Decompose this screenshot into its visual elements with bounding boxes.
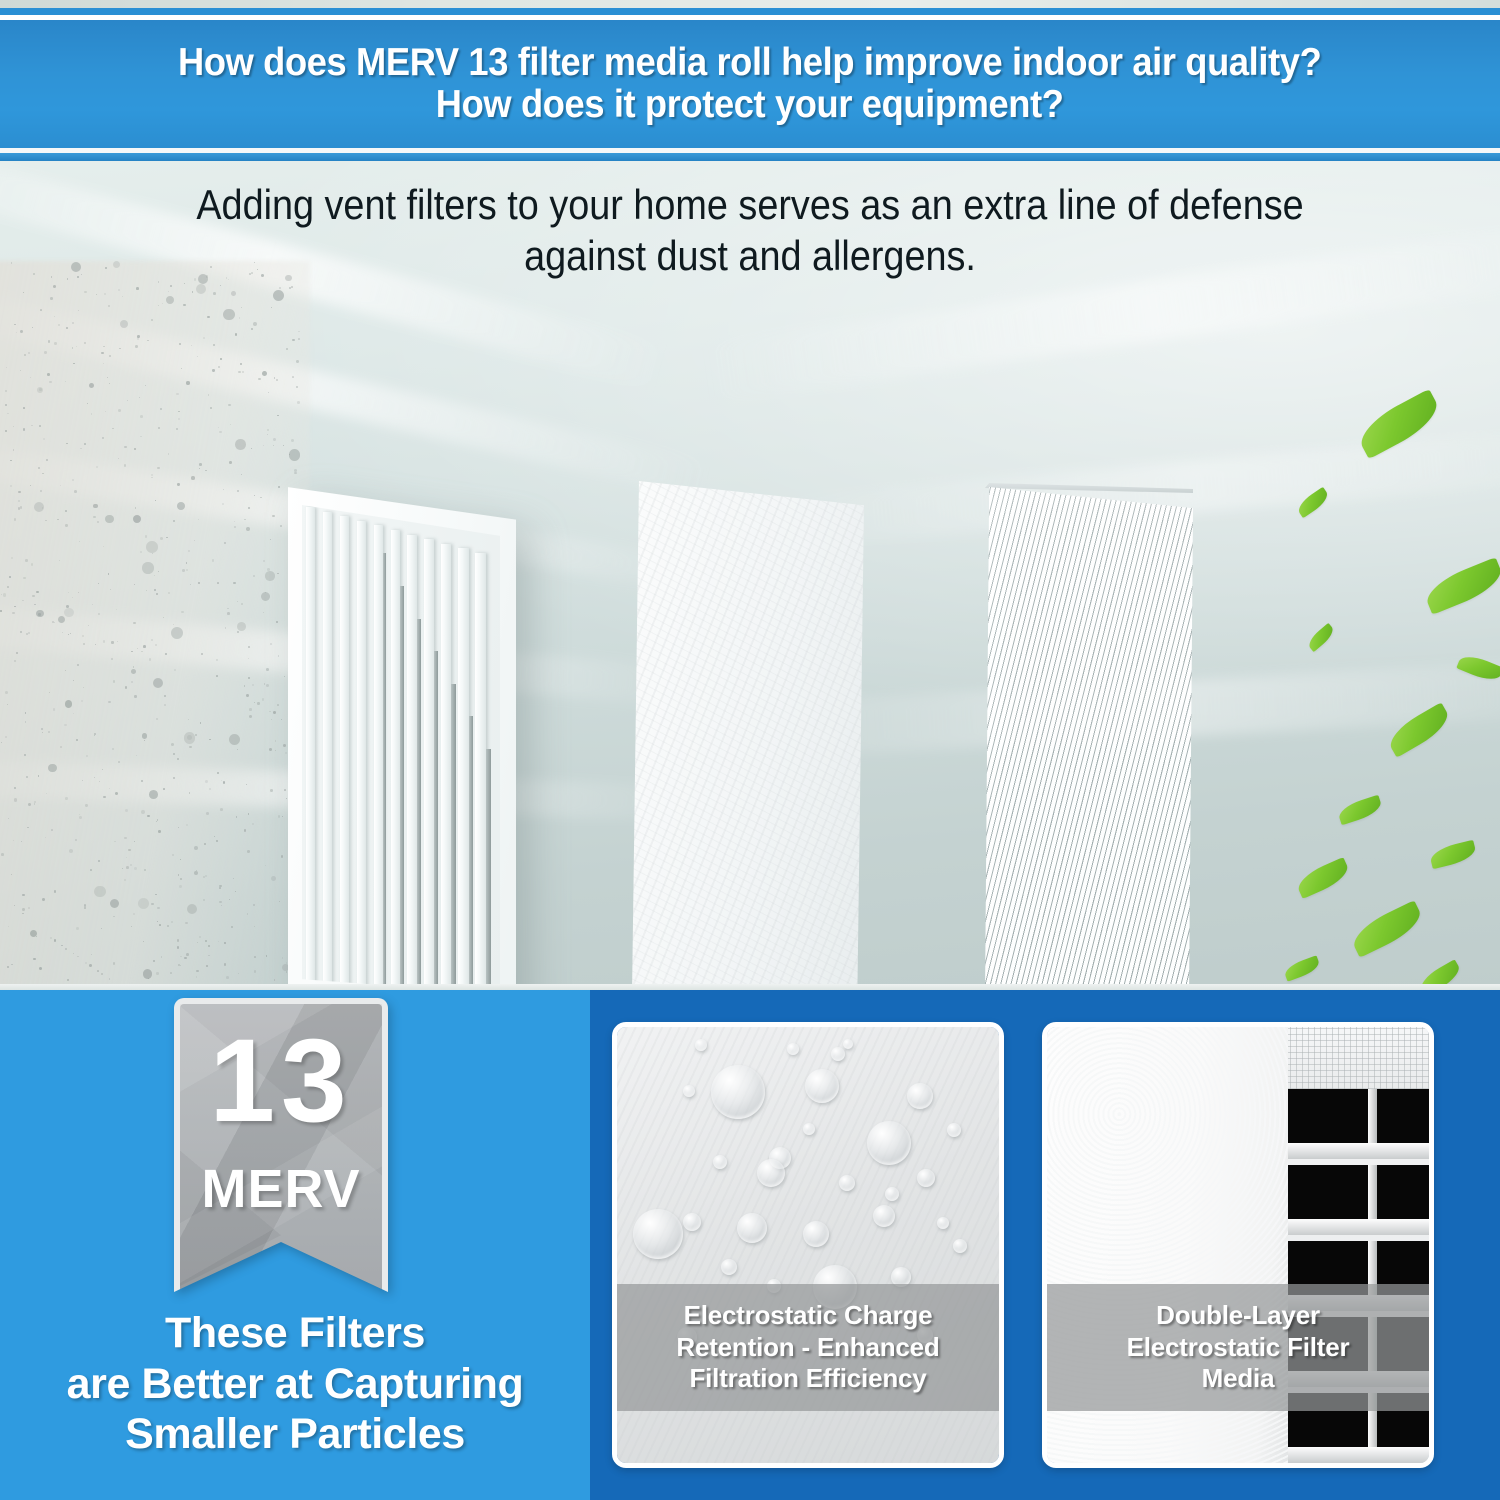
dust-particle-icon: [235, 439, 245, 449]
card-caption-line-2: Electrostatic Filter: [1057, 1332, 1419, 1364]
dust-particle-icon: [142, 562, 154, 574]
dust-particle-icon: [266, 955, 267, 956]
grille-louver-shadow: [400, 586, 403, 990]
dust-particle-icon: [291, 439, 294, 442]
dust-particle-icon: [176, 428, 178, 430]
grille-louver: [306, 507, 315, 990]
dust-particle-icon: [277, 704, 279, 706]
vent-opening: [1284, 1089, 1429, 1143]
header-line-1: How does MERV 13 filter media roll help …: [178, 42, 1321, 84]
dust-particle-icon: [184, 957, 186, 959]
water-droplet-icon: [711, 1065, 765, 1119]
dust-particle-icon: [221, 780, 222, 781]
dust-particle-icon: [167, 925, 169, 927]
dust-particle-icon: [20, 506, 22, 508]
dust-particle-icon: [16, 652, 18, 654]
dust-particle-icon: [62, 632, 63, 633]
dust-particle-icon: [96, 466, 98, 468]
grille-louver: [374, 525, 384, 990]
dust-particle-icon: [24, 754, 25, 755]
card-caption-line-1: Double-Layer: [1057, 1300, 1419, 1332]
dust-particle-icon: [1, 853, 4, 856]
dust-particle-icon: [11, 557, 13, 559]
dust-particle-icon: [179, 343, 181, 345]
dust-particle-icon: [180, 859, 181, 860]
dust-particle-icon: [205, 940, 207, 942]
dust-particle-icon: [283, 744, 286, 747]
dust-particle-icon: [224, 942, 225, 943]
dust-particle-icon: [94, 777, 95, 778]
dust-particle-icon: [216, 675, 218, 677]
water-droplet-icon: [805, 1069, 839, 1103]
dust-particle-icon: [275, 740, 276, 741]
dust-particle-icon: [204, 843, 206, 845]
dust-particle-icon: [28, 907, 30, 909]
dust-particle-icon: [241, 474, 242, 475]
dust-particle-icon: [108, 701, 111, 704]
dust-particle-icon: [87, 403, 88, 404]
dust-particle-icon: [0, 610, 1, 611]
dust-particle-icon: [286, 971, 287, 972]
dust-particle-icon: [98, 613, 100, 615]
dust-particle-icon: [265, 571, 274, 580]
dust-particle-icon: [231, 291, 236, 296]
dust-particle-icon: [166, 296, 174, 304]
dust-particle-icon: [163, 788, 165, 790]
dust-particle-icon: [113, 916, 114, 917]
dust-particle-icon: [220, 808, 223, 811]
merv-headline-line-1: These Filters: [0, 1308, 590, 1359]
dust-particle-icon: [76, 346, 77, 347]
water-droplet-icon: [721, 1259, 737, 1275]
card-caption-line-3: Filtration Efficiency: [627, 1363, 989, 1395]
dust-particle-icon: [177, 502, 185, 510]
dust-particle-icon: [244, 519, 245, 520]
dust-particle-icon: [159, 924, 161, 926]
vent-opening: [1284, 1165, 1429, 1219]
green-leaf-icon: [1283, 955, 1322, 981]
dust-particle-icon: [178, 418, 180, 420]
grille-louver: [458, 548, 468, 990]
water-droplet-icon: [803, 1221, 829, 1247]
dust-particle-icon: [53, 285, 56, 288]
dust-particle-icon: [145, 385, 146, 386]
dust-particle-icon: [188, 550, 190, 552]
dust-particle-icon: [161, 956, 163, 958]
dust-particle-icon: [177, 946, 180, 949]
dust-particle-icon: [194, 540, 195, 541]
dust-particle-icon: [6, 367, 7, 368]
vent-divider-rib: [1368, 1089, 1377, 1143]
dust-particle-icon: [221, 905, 222, 906]
dust-particle-icon: [135, 345, 138, 348]
dust-particle-icon: [197, 356, 198, 357]
dust-particle-icon: [82, 635, 84, 637]
dust-particle-icon: [186, 569, 188, 571]
dust-particle-icon: [137, 335, 140, 338]
dust-particle-icon: [113, 680, 116, 683]
dust-particle-icon: [156, 718, 158, 720]
dust-particle-icon: [36, 610, 44, 618]
dust-particle-icon: [212, 369, 214, 371]
dust-particle-icon: [1, 594, 2, 595]
dust-particle-icon: [238, 973, 239, 974]
dust-particle-icon: [216, 659, 217, 660]
dust-particle-icon: [152, 553, 153, 554]
dust-particle-icon: [103, 546, 104, 547]
dust-particle-icon: [297, 401, 300, 404]
dust-particle-icon: [126, 857, 127, 858]
dust-particle-icon: [47, 373, 50, 376]
dust-particle-icon: [133, 622, 135, 624]
dust-particle-icon: [158, 281, 159, 282]
grille-louver-shadow: [434, 651, 438, 990]
dust-particle-icon: [64, 724, 66, 726]
dust-particle-icon: [229, 461, 232, 464]
water-droplet-icon: [787, 1043, 799, 1055]
dust-particle-icon: [231, 926, 233, 928]
dust-particle-icon: [253, 322, 257, 326]
dust-particle-icon: [157, 921, 158, 922]
dust-particle-icon: [249, 708, 252, 711]
dust-particle-icon: [34, 801, 36, 803]
dust-particle-icon: [171, 627, 183, 639]
dust-particle-icon: [229, 734, 240, 745]
merv-standard-label: MERV: [174, 1158, 388, 1220]
dust-particle-icon: [210, 407, 212, 409]
grille-louver: [475, 553, 486, 990]
dust-particle-icon: [237, 622, 246, 631]
dust-particle-icon: [141, 651, 143, 653]
grille-louver: [391, 530, 401, 990]
dust-particle-icon: [105, 515, 114, 524]
dust-particle-icon: [59, 560, 60, 561]
dust-particle-icon: [45, 837, 46, 838]
water-droplet-icon: [843, 1039, 853, 1049]
water-droplet-icon: [873, 1205, 895, 1227]
dust-particle-icon: [84, 907, 86, 909]
dust-particle-icon: [286, 962, 287, 963]
dust-particle-icon: [22, 908, 25, 911]
dust-particle-icon: [219, 887, 221, 889]
water-droplet-icon: [683, 1085, 695, 1097]
dust-particle-icon: [7, 413, 9, 415]
subtitle-block: Adding vent filters to your home serves …: [0, 179, 1500, 281]
dust-particle-icon: [286, 798, 287, 799]
dust-particle-icon: [26, 776, 28, 778]
dust-particle-icon: [137, 648, 138, 649]
merv-headline-line-3: Smaller Particles: [0, 1409, 590, 1460]
vent-mesh-icon: [1284, 1027, 1429, 1089]
water-droplet-icon: [757, 1159, 785, 1187]
dust-particle-icon: [168, 291, 169, 292]
dust-particle-icon: [48, 764, 57, 773]
grille-louver: [424, 539, 434, 990]
dust-particle-icon: [154, 589, 156, 591]
dust-particle-icon: [50, 297, 52, 299]
merv-ribbon-badge: 13 MERV: [174, 998, 388, 1292]
dust-particle-icon: [189, 792, 190, 793]
dust-particle-icon: [237, 601, 238, 602]
water-droplet-icon: [947, 1123, 961, 1137]
dust-particle-icon: [275, 750, 276, 751]
vent-slat: [1284, 1143, 1429, 1159]
dust-particle-icon: [34, 803, 36, 805]
vent-divider-rib: [1368, 1165, 1377, 1219]
dust-particle-icon: [283, 445, 284, 446]
dust-particle-icon: [252, 684, 254, 686]
dust-particle-icon: [104, 293, 106, 295]
water-droplet-icon: [633, 1209, 683, 1259]
dust-particle-icon: [254, 956, 256, 958]
header-text-block: How does MERV 13 filter media roll help …: [95, 42, 1404, 126]
dust-particle-icon: [147, 340, 148, 341]
dust-particle-icon: [23, 577, 26, 580]
dust-particle-icon: [143, 969, 152, 978]
dust-particle-icon: [73, 713, 74, 714]
dust-particle-icon: [191, 345, 192, 346]
green-leaf-icon: [1348, 900, 1427, 958]
dust-particle-icon: [292, 376, 294, 378]
merv-headline-line-2: are Better at Capturing: [0, 1359, 590, 1410]
dust-particle-icon: [154, 575, 155, 576]
dust-particle-icon: [76, 927, 79, 930]
dust-particle-icon: [226, 976, 229, 979]
dust-particle-icon: [91, 954, 92, 955]
dust-particle-icon: [164, 704, 166, 706]
feature-cards-panel: Electrostatic Charge Retention - Enhance…: [590, 990, 1500, 1500]
dust-particle-icon: [274, 377, 275, 378]
water-droplet-icon: [885, 1187, 899, 1201]
dust-particle-icon: [72, 322, 74, 324]
water-droplet-icon: [917, 1169, 935, 1187]
dust-particle-icon: [125, 686, 128, 689]
dust-particle-icon: [254, 970, 256, 972]
dust-particle-icon: [105, 411, 106, 412]
dust-particle-icon: [126, 866, 129, 869]
dust-particle-icon: [72, 479, 74, 481]
merv-headline: These Filters are Better at Capturing Sm…: [0, 1308, 590, 1460]
dust-particle-icon: [54, 939, 57, 942]
dust-particle-icon: [70, 633, 71, 634]
pleated-hepa-media-icon: [985, 487, 1193, 990]
dust-particle-icon: [199, 463, 202, 466]
dust-particle-icon: [248, 658, 249, 659]
dust-particle-icon: [156, 972, 159, 975]
dust-particle-icon: [40, 309, 42, 311]
dust-particle-icon: [191, 476, 195, 480]
water-droplet-icon: [737, 1213, 767, 1243]
dust-particle-icon: [93, 516, 96, 519]
dust-particle-icon: [266, 668, 269, 671]
dust-particle-icon: [42, 473, 44, 475]
dust-particle-icon: [124, 879, 126, 881]
dust-particle-icon: [142, 733, 147, 738]
feature-card-electrostatic-charge: Electrostatic Charge Retention - Enhance…: [612, 1022, 1004, 1468]
dust-particle-icon: [165, 653, 167, 655]
dust-particle-icon: [12, 612, 15, 615]
dust-particle-icon: [242, 371, 243, 372]
dust-particle-icon: [239, 317, 240, 318]
water-droplet-icon: [831, 1047, 845, 1061]
water-droplet-icon: [803, 1123, 815, 1135]
dust-particle-icon: [65, 797, 67, 799]
dust-particle-icon: [124, 837, 126, 839]
dust-particle-icon: [44, 351, 47, 354]
dust-particle-icon: [65, 381, 66, 382]
dust-particle-icon: [186, 381, 189, 384]
grille-louver-area: [302, 501, 500, 990]
dust-particle-icon: [109, 978, 110, 979]
dust-particle-icon: [171, 921, 173, 923]
dust-particle-icon: [14, 787, 16, 789]
dust-particle-icon: [158, 830, 161, 833]
dust-particle-icon: [94, 733, 96, 735]
dust-particle-icon: [50, 937, 52, 939]
dust-particle-icon: [18, 491, 21, 494]
dust-particle-icon: [25, 559, 28, 562]
dust-particle-icon: [296, 360, 299, 363]
dust-particle-icon: [263, 560, 264, 561]
dust-particle-icon: [248, 507, 249, 508]
dust-particle-icon: [149, 790, 158, 799]
dust-particle-icon: [298, 338, 300, 340]
dust-particle-icon: [136, 287, 139, 290]
dust-particle-icon: [23, 407, 25, 409]
dust-particle-icon: [270, 789, 273, 792]
grille-louver-shadow: [486, 749, 491, 985]
dust-particle-icon: [97, 970, 99, 972]
dust-particle-icon: [134, 867, 137, 870]
infographic-page: How does MERV 13 filter media roll help …: [0, 0, 1500, 1500]
dust-particle-icon: [267, 568, 270, 571]
water-droplet-icon: [907, 1083, 933, 1109]
merv-rating-number: 13: [174, 1022, 388, 1140]
dust-particle-icon: [170, 972, 172, 974]
dust-particle-icon: [141, 810, 145, 814]
dust-particle-icon: [247, 913, 249, 915]
dust-particle-icon: [206, 965, 208, 967]
dust-particle-icon: [113, 962, 115, 964]
header-banner: How does MERV 13 filter media roll help …: [0, 20, 1500, 148]
dust-particle-icon: [52, 621, 54, 623]
dust-particle-icon: [284, 676, 285, 677]
dust-particle-icon: [34, 502, 44, 512]
dust-particle-icon: [177, 483, 179, 485]
water-droplet-icon: [867, 1121, 911, 1165]
dust-particle-icon: [149, 658, 151, 660]
header-line-2: How does it protect your equipment?: [178, 84, 1321, 126]
dust-particle-icon: [244, 685, 245, 686]
grille-louver-shadow: [383, 553, 386, 990]
dust-particle-icon: [25, 721, 26, 722]
hero-scene: Adding vent filters to your home serves …: [0, 161, 1500, 990]
dust-particle-icon: [37, 387, 43, 393]
header-bottom-blue-rule: [0, 153, 1500, 161]
dust-particle-icon: [237, 631, 239, 633]
dust-particle-icon: [223, 309, 234, 320]
dust-particle-icon: [220, 358, 221, 359]
dust-particle-icon: [225, 627, 226, 628]
dust-particle-icon: [284, 789, 286, 791]
dust-particle-icon: [7, 586, 9, 588]
dust-particle-icon: [227, 612, 230, 615]
top-blue-rule: [0, 8, 1500, 15]
dust-particle-icon: [177, 939, 179, 941]
dust-particle-icon: [209, 788, 211, 790]
filter-media-sheet-icon: [632, 481, 864, 990]
dust-particle-icon: [64, 608, 73, 617]
dust-particle-icon: [269, 748, 272, 751]
dust-particle-icon: [54, 342, 57, 345]
green-leaf-icon: [1294, 857, 1352, 899]
water-droplet-icon: [953, 1239, 967, 1253]
dust-particle-icon: [182, 569, 185, 572]
water-droplet-icon: [695, 1039, 707, 1051]
dust-particle-icon: [194, 871, 198, 875]
dust-particle-icon: [40, 490, 42, 492]
air-vent-grille-icon: [288, 479, 516, 990]
dust-particle-icon: [5, 430, 7, 432]
dust-particle-icon: [246, 694, 249, 697]
dust-particle-icon: [151, 477, 152, 478]
dust-particle-icon: [14, 324, 16, 326]
dust-particle-icon: [286, 348, 288, 350]
dust-particle-icon: [65, 524, 67, 526]
dust-particle-icon: [229, 899, 230, 900]
dust-particle-icon: [65, 700, 72, 707]
dust-particle-icon: [131, 669, 136, 674]
green-leaf-icon: [1336, 795, 1383, 826]
dust-particle-icon: [60, 746, 62, 748]
dust-particle-icon: [58, 616, 65, 623]
dust-particle-icon: [120, 320, 128, 328]
dust-particle-icon: [9, 576, 11, 578]
dust-particle-icon: [88, 625, 89, 626]
green-leaf-icon: [1421, 557, 1500, 615]
dust-particle-icon: [73, 680, 74, 681]
dust-particle-icon: [262, 371, 267, 376]
dust-particle-icon: [118, 289, 120, 291]
vent-slat: [1284, 1219, 1429, 1235]
dust-particle-icon: [65, 510, 67, 512]
dust-particle-icon: [151, 319, 152, 320]
grille-louver: [340, 516, 349, 990]
grille-louver-shadow: [469, 716, 474, 987]
dust-particle-icon: [206, 812, 209, 815]
grille-louver: [407, 535, 417, 990]
dust-particle-icon: [261, 592, 270, 601]
dust-particle-icon: [5, 736, 7, 738]
dust-particle-icon: [294, 472, 296, 474]
dust-particle-icon: [27, 827, 28, 828]
dust-particle-icon: [157, 907, 159, 909]
grille-louver: [441, 544, 451, 990]
water-droplet-icon: [683, 1213, 701, 1231]
dust-particle-icon: [262, 698, 265, 701]
water-droplet-icon: [839, 1175, 855, 1191]
dust-particle-icon: [22, 894, 24, 896]
dust-particle-icon: [83, 643, 85, 645]
dust-particle-icon: [241, 603, 243, 605]
dust-particle-icon: [162, 303, 163, 304]
dust-particle-icon: [271, 307, 272, 308]
dust-particle-icon: [138, 898, 149, 909]
dust-particle-icon: [216, 840, 218, 842]
card-caption-line-1: Electrostatic Charge: [627, 1300, 989, 1332]
dust-particle-icon: [20, 370, 21, 371]
dust-particle-icon: [196, 976, 197, 977]
